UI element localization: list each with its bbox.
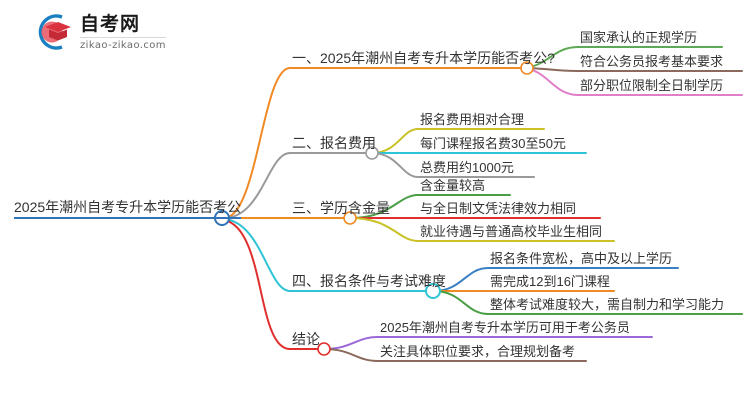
leaf-node-1-3[interactable]: 部分职位限制全日制学历 [580,79,723,95]
leaf-node-4-1[interactable]: 报名条件宽松，高中及以上学历 [490,252,672,268]
logo-text: 自考网 zikao-zikao.com [80,13,166,51]
root-node[interactable]: 2025年潮州自考专升本学历能否考公 [14,200,241,219]
branch-node-5[interactable]: 结论 [292,332,320,349]
leaf-node-5-2[interactable]: 关注具体职位要求，合理规划备考 [380,345,575,361]
logo-subtitle: zikao-zikao.com [80,40,166,51]
leaf-node-2-2[interactable]: 每门课程报名费30至50元 [420,137,566,153]
leaf-node-1-1[interactable]: 国家承认的正规学历 [580,31,697,47]
branch-node-1[interactable]: 一、2025年潮州自考专升本学历能否考公? [292,51,555,68]
leaf-node-3-2[interactable]: 与全日制文凭法律效力相同 [420,202,576,218]
leaf-node-4-3[interactable]: 整体考试难度较大，需自制力和学习能力 [490,298,724,314]
leaf-node-1-2[interactable]: 符合公务员报考基本要求 [580,55,723,71]
leaf-node-5-1[interactable]: 2025年潮州自考专升本学历可用于考公务员 [380,321,630,337]
zikao-logo-icon [28,10,74,54]
leaf-node-2-3[interactable]: 总费用约1000元 [420,161,514,177]
leaf-node-4-2[interactable]: 需完成12到16门课程 [490,275,610,291]
site-logo: 自考网 zikao-zikao.com [28,10,166,54]
leaf-node-3-3[interactable]: 就业待遇与普通高校毕业生相同 [420,225,602,241]
branch-node-4[interactable]: 四、报名条件与考试难度 [292,274,446,291]
leaf-node-2-1[interactable]: 报名费用相对合理 [420,113,524,129]
logo-title: 自考网 [80,15,166,38]
leaf-node-3-1[interactable]: 含金量较高 [420,179,485,195]
mindmap-canvas: 自考网 zikao-zikao.com 2025年潮州自考专升本学历能否考公 一… [0,0,750,410]
branch-node-2[interactable]: 二、报名费用 [292,136,376,153]
branch-node-3[interactable]: 三、学历含金量 [292,201,390,218]
